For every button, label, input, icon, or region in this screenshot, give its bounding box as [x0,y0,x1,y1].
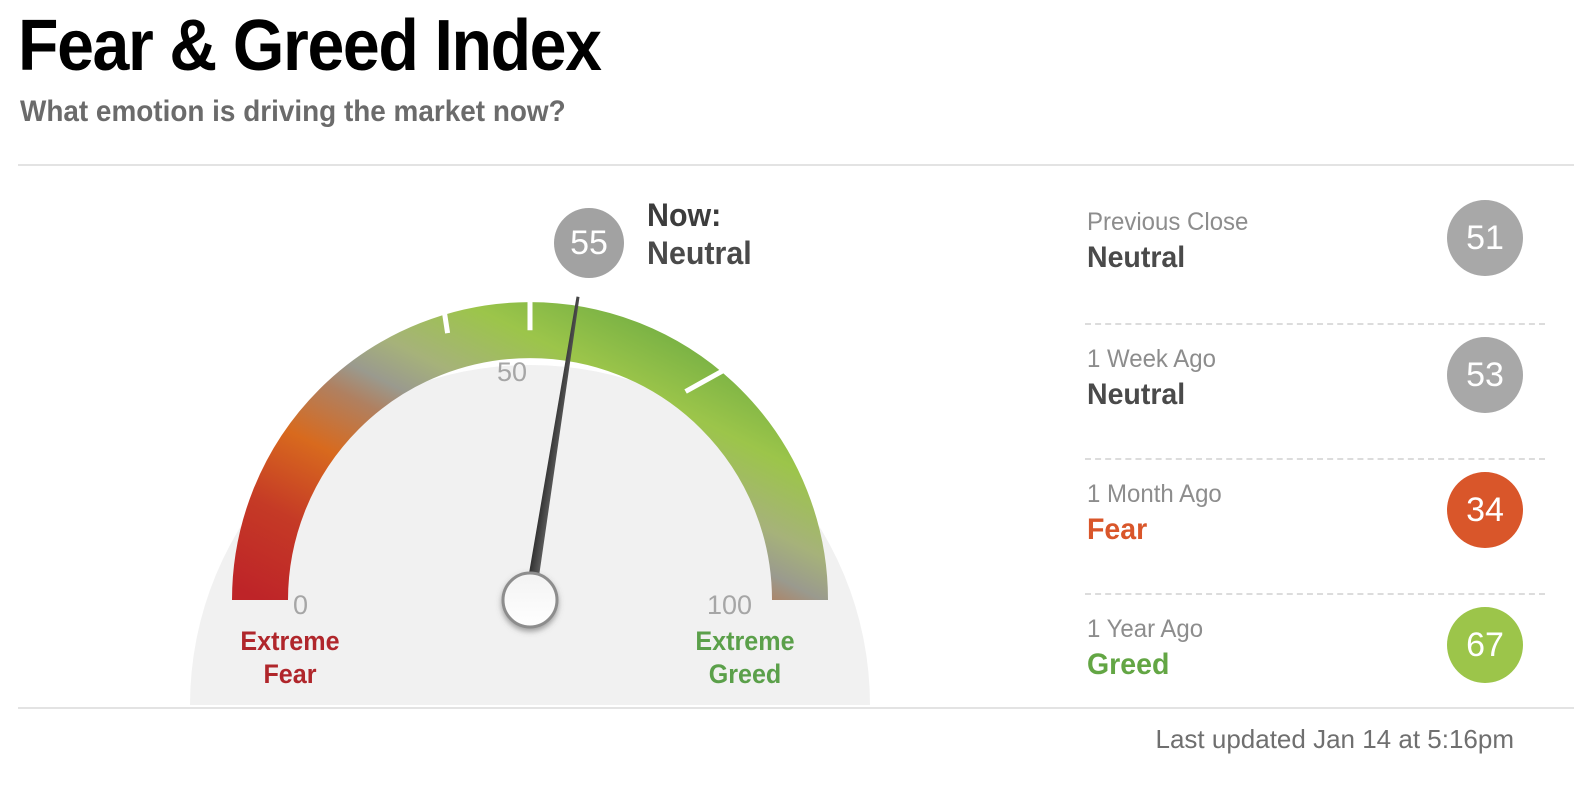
history-sentiment: Neutral [1087,376,1215,414]
history-sentiment: Greed [1087,646,1202,684]
gauge-panel: 55 Now: Neutral 0 50 100 Extreme Fear Ex… [150,175,950,710]
gauge-label-extreme-greed: Extreme Greed [657,625,834,691]
history-period: 1 Month Ago [1087,478,1222,511]
history-period: 1 Week Ago [1087,343,1216,376]
history-score-badge: 67 [1447,607,1523,683]
gauge-label-extreme-fear: Extreme Fear [206,625,373,691]
history-score-badge: 53 [1447,337,1523,413]
header-divider [18,164,1574,166]
page-title: Fear & Greed Index [18,4,601,88]
gauge-label-extreme-greed-line1: Extreme [657,625,834,658]
history-panel: Previous Close Neutral 51 1 Week Ago Neu… [1085,188,1545,728]
gauge-tick-max: 100 [707,590,752,621]
history-row-1-month-ago: 1 Month Ago Fear 34 [1085,458,1545,593]
history-period: 1 Year Ago [1087,613,1203,646]
gauge-hub [503,573,557,627]
now-label: Now: [647,195,721,235]
history-row-1-week-ago: 1 Week Ago Neutral 53 [1085,323,1545,458]
last-updated-text: Last updated Jan 14 at 5:16pm [1156,722,1515,756]
gauge-label-extreme-fear-line1: Extreme [206,625,373,658]
history-score-badge: 51 [1447,200,1523,276]
history-score-badge: 34 [1447,472,1523,548]
history-row-text: 1 Month Ago Fear [1087,478,1227,549]
history-row-text: Previous Close Neutral [1087,206,1255,277]
now-sentiment: Neutral [647,233,752,273]
history-period: Previous Close [1087,206,1248,239]
gauge-label-extreme-greed-line2: Greed [657,658,834,691]
footer-divider [18,707,1574,709]
page-subtitle: What emotion is driving the market now? [20,92,566,132]
current-score-badge: 55 [554,208,624,278]
history-row-text: 1 Week Ago Neutral [1087,343,1221,414]
history-row-text: 1 Year Ago Greed [1087,613,1208,684]
history-sentiment: Neutral [1087,239,1247,277]
history-sentiment: Fear [1087,511,1220,549]
gauge-tick-mid: 50 [497,357,527,388]
gauge-label-extreme-fear-line2: Fear [206,658,373,691]
history-row-previous-close: Previous Close Neutral 51 [1085,188,1545,323]
fear-greed-index-widget: Fear & Greed Index What emotion is drivi… [0,0,1592,786]
gauge-tick-min: 0 [293,590,308,621]
